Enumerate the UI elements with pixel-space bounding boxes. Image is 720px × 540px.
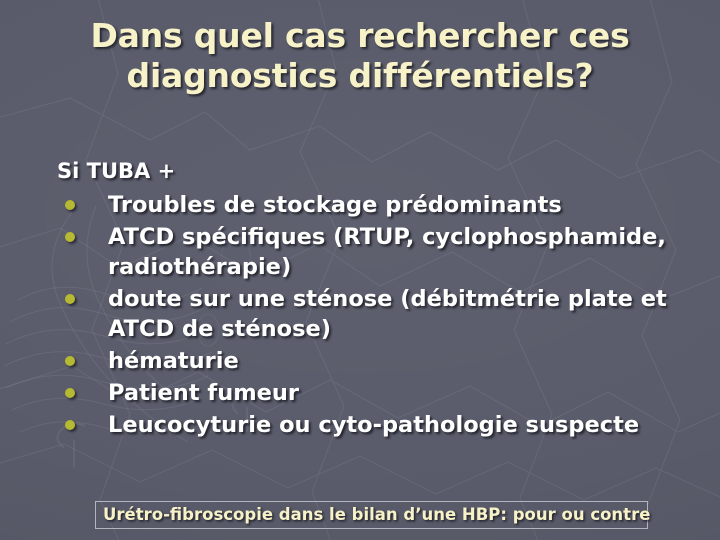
list-item-label: ATCD spécifiques (RTUP, cyclophosphamide… [108, 224, 666, 280]
presentation-slide: Dans quel cas rechercher ces diagnostics… [0, 0, 720, 540]
bullet-dot-icon [65, 420, 75, 430]
list-item-label: Leucocyturie ou cyto-pathologie suspecte [108, 412, 639, 438]
bullet-list: Troubles de stockage prédominants ATCD s… [0, 190, 720, 440]
footer-caption-text: Urétro-fibroscopie dans le bilan d’une H… [103, 505, 703, 525]
list-item: hématurie [0, 346, 720, 376]
bullet-dot-icon [65, 200, 75, 210]
lead-text: Si TUBA + [57, 158, 720, 184]
slide-body: Si TUBA + Troubles de stockage prédomina… [0, 158, 720, 442]
list-item: ATCD spécifiques (RTUP, cyclophosphamide… [0, 222, 720, 282]
list-item: Leucocyturie ou cyto-pathologie suspecte [0, 410, 720, 440]
list-item: doute sur une sténose (débitmétrie plate… [0, 284, 720, 344]
title-line-1: Dans quel cas rechercher ces [36, 16, 684, 56]
page-title: Dans quel cas rechercher ces diagnostics… [36, 16, 684, 96]
bullet-dot-icon [65, 388, 75, 398]
list-item-label: Troubles de stockage prédominants [108, 192, 562, 218]
bullet-dot-icon [65, 356, 75, 366]
list-item-label: hématurie [108, 348, 239, 374]
list-item: Patient fumeur [0, 378, 720, 408]
title-line-2: diagnostics différentiels? [36, 56, 684, 96]
bullet-dot-icon [65, 232, 75, 242]
bullet-dot-icon [65, 294, 75, 304]
list-item-label: Patient fumeur [108, 380, 299, 406]
list-item-label: doute sur une sténose (débitmétrie plate… [108, 286, 667, 342]
list-item: Troubles de stockage prédominants [0, 190, 720, 220]
